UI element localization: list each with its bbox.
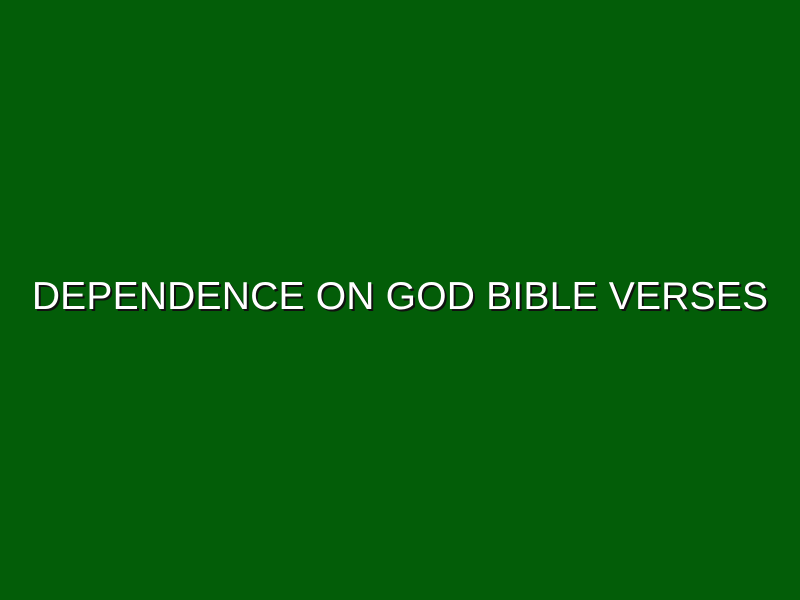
title-card: DEPENDENCE ON GOD BIBLE VERSES [0, 0, 800, 600]
page-title: DEPENDENCE ON GOD BIBLE VERSES [0, 276, 800, 319]
